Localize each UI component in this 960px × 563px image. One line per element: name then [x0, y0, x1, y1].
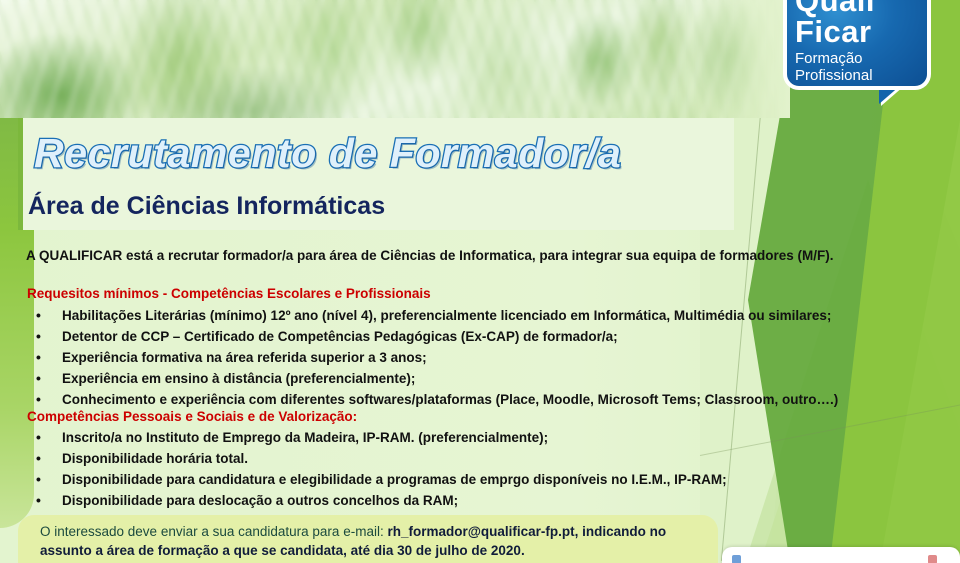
list-item: Habilitações Literárias (mínimo) 12º ano… — [27, 305, 838, 326]
footer-suffix-text: , indicando no — [575, 524, 667, 539]
bottom-right-card — [722, 547, 960, 563]
footer-prefix-text: O interessado deve enviar a sua candidat… — [40, 524, 387, 539]
list-item: Disponibilidade horária total. — [27, 448, 727, 469]
card-red-marker-icon — [928, 555, 937, 563]
list-item: Detentor de CCP – Certificado de Competê… — [27, 326, 838, 347]
recruitment-poster: Quali Ficar Formação Profissional Recrut… — [0, 0, 960, 563]
page-title: Recrutamento de Formador/a — [34, 130, 621, 177]
list-item: Disponibilidade para candidatura e elegi… — [27, 469, 727, 490]
section-heading-requisitos: Requesitos mínimos - Competências Escola… — [27, 286, 431, 301]
logo-text-group: Quali Ficar Formação Profissional — [795, 0, 921, 84]
intro-paragraph: A QUALIFICAR está a recrutar formador/a … — [26, 248, 833, 263]
logo-subtitle-formacao: Formação — [795, 50, 921, 67]
title-band-left-edge — [18, 118, 23, 230]
list-item: Experiência em ensino à distância (prefe… — [27, 368, 838, 389]
section-heading-competencias-pessoais: Competências Pessoais e Sociais e de Val… — [27, 409, 357, 424]
qualificar-logo: Quali Ficar Formação Profissional — [783, 0, 943, 114]
footer-line-1: O interessado deve enviar a sua candidat… — [40, 524, 666, 539]
card-blue-marker-icon — [732, 555, 741, 563]
photo-right-fade — [670, 0, 790, 118]
contact-footer-box: O interessado deve enviar a sua candidat… — [18, 515, 718, 563]
list-item: Inscrito/a no Instituto de Emprego da Ma… — [27, 427, 727, 448]
contact-email-link[interactable]: rh_formador@qualificar-fp.pt — [387, 524, 574, 539]
logo-line-ficar: Ficar — [795, 16, 921, 47]
header-photo-banner — [0, 0, 790, 118]
list-item: Disponibilidade para deslocação a outros… — [27, 490, 727, 511]
requisitos-list: Habilitações Literárias (mínimo) 12º ano… — [27, 305, 838, 410]
page-subtitle: Área de Ciências Informáticas — [28, 192, 385, 221]
competencias-pessoais-list: Inscrito/a no Instituto de Emprego da Ma… — [27, 427, 727, 511]
list-item: Conhecimento e experiência com diferente… — [27, 389, 838, 410]
logo-subtitle-profissional: Profissional — [795, 67, 921, 84]
footer-line-2: assunto a área de formação a que se cand… — [40, 543, 525, 558]
list-item: Experiência formativa na área referida s… — [27, 347, 838, 368]
